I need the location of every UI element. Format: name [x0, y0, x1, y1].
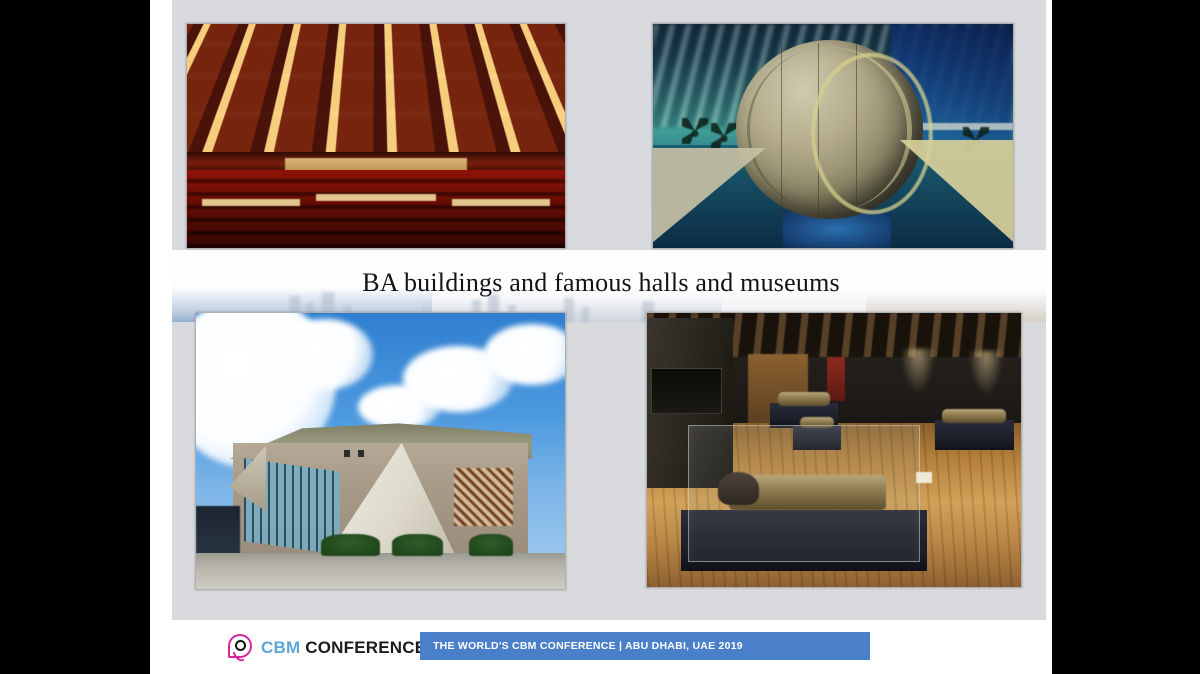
auditorium-rail	[316, 194, 437, 201]
photo-museum	[646, 312, 1022, 588]
cloud	[277, 319, 373, 391]
planetarium-wedge-left	[652, 148, 766, 248]
museum-plinth	[935, 420, 1014, 450]
speech-bubble-circle-icon	[228, 634, 254, 660]
sphere-seam	[781, 43, 782, 215]
photo-auditorium	[186, 23, 566, 249]
slide-footer: CBM CONFERENCE. THE WORLD'S CBM CONFEREN…	[150, 620, 1052, 674]
auditorium-rail	[202, 199, 300, 206]
palm-tree-icon	[711, 123, 737, 149]
museum-object-label	[916, 472, 932, 483]
cbm-conference-logo: CBM CONFERENCE.	[228, 633, 431, 661]
building-window	[358, 450, 364, 457]
video-player-stage: BA buildings and famous halls and museum…	[0, 0, 1200, 674]
hedge	[469, 534, 513, 556]
hedge	[321, 534, 380, 556]
hedge	[392, 534, 444, 556]
building-plaza-ground	[196, 553, 565, 589]
watermark-tower	[582, 307, 589, 322]
spotlight	[969, 351, 1003, 395]
planetarium-wedge-right	[900, 140, 1014, 248]
letterbox-bar-right	[1052, 0, 1200, 674]
logo-text-conference: CONFERENCE.	[305, 638, 431, 657]
logo-wordmark: CBM CONFERENCE.	[261, 639, 431, 656]
presentation-slide: BA buildings and famous halls and museum…	[150, 0, 1052, 674]
photo-planetarium	[652, 23, 1014, 249]
museum-wall-artwork	[647, 321, 711, 362]
slide-title: BA buildings and famous halls and museum…	[150, 268, 1052, 298]
palm-tree-icon	[682, 118, 708, 144]
auditorium-rail	[452, 199, 550, 206]
logo-text-cbm: CBM	[261, 638, 300, 657]
sarcophagus	[778, 392, 830, 406]
auditorium-seat-rows	[187, 172, 565, 248]
building-lattice-screen	[454, 468, 513, 526]
inner-ring	[235, 640, 246, 651]
building-window	[344, 450, 350, 457]
auditorium-balcony-front	[187, 129, 565, 154]
conference-tagline-banner: THE WORLD'S CBM CONFERENCE | ABU DHABI, …	[420, 632, 870, 660]
tagline-text: THE WORLD'S CBM CONFERENCE | ABU DHABI, …	[420, 640, 743, 652]
museum-wall-vitrine	[651, 368, 722, 415]
cloud	[358, 385, 439, 429]
sarcophagus	[942, 409, 1006, 423]
sarcophagus-head	[718, 472, 759, 505]
letterbox-bar-left	[0, 0, 150, 674]
spotlight	[901, 349, 935, 393]
photo-building	[195, 312, 566, 590]
